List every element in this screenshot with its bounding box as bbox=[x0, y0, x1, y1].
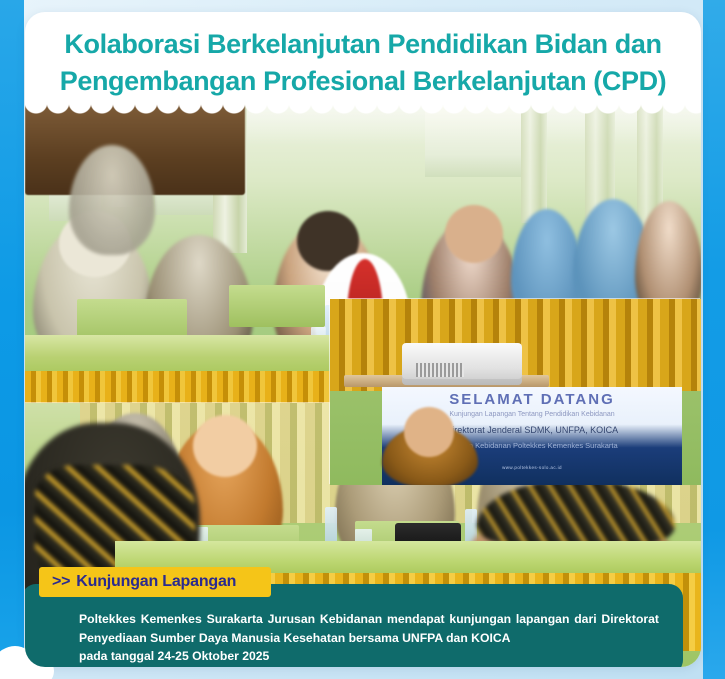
screen-headline: SELAMAT DATANG bbox=[382, 391, 682, 408]
badge-arrow-icon: >> bbox=[52, 573, 70, 591]
photo-middle-projector: SELAMAT DATANG Kunjungan Lapangan Tentan… bbox=[330, 299, 701, 485]
projector-device bbox=[402, 343, 522, 385]
caption-line-1: Poltekkes Kemenkes Surakarta Jurusan Keb… bbox=[79, 612, 597, 626]
caption-body: Poltekkes Kemenkes Surakarta Jurusan Keb… bbox=[79, 610, 659, 666]
caption-line-3: pada tanggal 24-25 Oktober 2025 bbox=[79, 647, 659, 666]
page-title: Kolaborasi Berkelanjutan Pendidikan Bida… bbox=[25, 12, 701, 107]
right-blue-edge bbox=[703, 0, 725, 679]
title-line-2: Pengembangan Profesional Berkelanjutan (… bbox=[25, 63, 701, 100]
status-badge[interactable]: >> Kunjungan Lapangan bbox=[39, 567, 271, 597]
title-line-1: Kolaborasi Berkelanjutan Pendidikan Bida… bbox=[25, 26, 701, 63]
content-card: SELAMAT DATANG Kunjungan Lapangan Tentan… bbox=[25, 12, 701, 667]
left-blue-edge bbox=[0, 0, 24, 679]
caption-box: >> Kunjungan Lapangan Poltekkes Kemenkes… bbox=[25, 584, 683, 667]
badge-label: Kunjungan Lapangan bbox=[76, 573, 236, 591]
